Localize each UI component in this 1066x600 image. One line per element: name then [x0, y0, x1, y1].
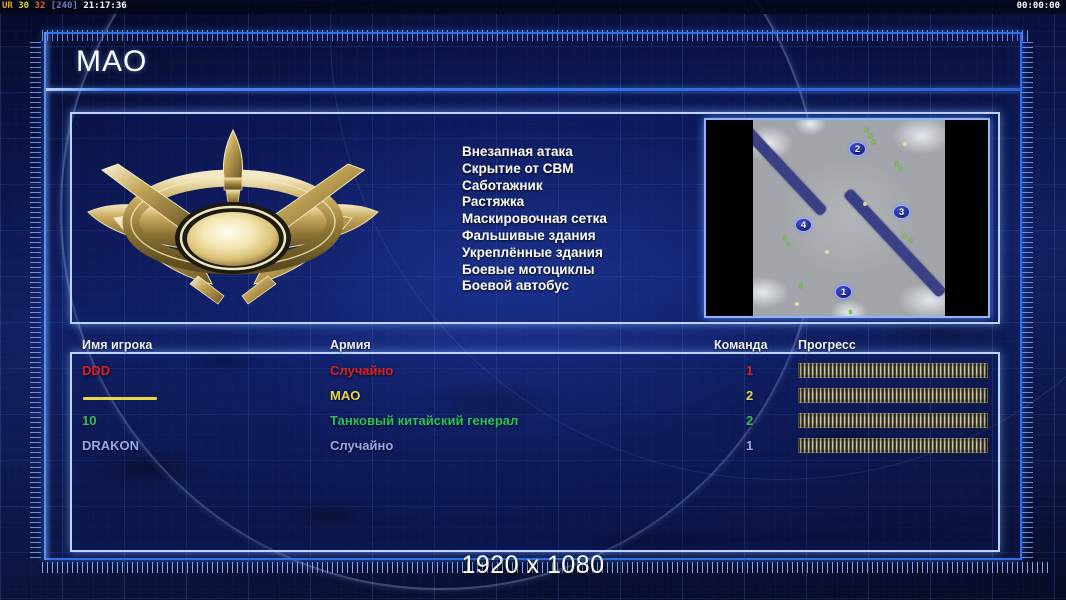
minimap-river — [843, 188, 945, 298]
minimap-tree — [869, 134, 872, 138]
ability-list: Внезапная атака Скрытие от СВМ Саботажни… — [462, 144, 607, 295]
minimap-tree — [903, 234, 906, 238]
hud-frame-glow — [44, 32, 52, 560]
minimap-tree — [865, 128, 868, 132]
minimap-tree — [783, 236, 786, 240]
player-army[interactable]: MAO — [330, 388, 360, 403]
minimap-start-position[interactable]: 1 — [835, 285, 852, 299]
minimap-terrain: 2 3 4 1 — [753, 120, 945, 316]
minimap-start-position[interactable]: 3 — [893, 205, 910, 219]
table-row[interactable]: MAO 2 — [70, 385, 1000, 410]
minimap-resource — [903, 142, 907, 146]
game-lobby-screen: UR 30 32 [240] 21:17:36 00:00:00 MAO — [0, 0, 1066, 600]
minimap-river — [753, 120, 828, 217]
title-bar: MAO — [46, 34, 1020, 90]
ability-item: Маскировочная сетка — [462, 211, 607, 228]
player-name[interactable] — [83, 397, 157, 400]
minimap-resource — [795, 302, 799, 306]
overlay-status-left: UR 30 32 [240] 21:17:36 — [2, 1, 127, 11]
minimap-tree — [849, 310, 852, 314]
player-name[interactable]: DRAKON — [82, 438, 139, 453]
minimap-tree — [909, 238, 912, 242]
status-bracket: [240] — [51, 1, 78, 11]
table-row[interactable]: DDD Случайно 1 — [70, 360, 1000, 385]
player-team[interactable]: 2 — [746, 413, 753, 428]
column-header-progress: Прогресс — [798, 338, 856, 352]
column-header-army: Армия — [330, 338, 371, 352]
minimap-start-position[interactable]: 4 — [795, 218, 812, 232]
ruler-left — [30, 42, 41, 558]
player-army[interactable]: Танковый китайский генерал — [330, 413, 518, 428]
player-army[interactable]: Случайно — [330, 363, 393, 378]
player-progress-bar — [798, 438, 988, 453]
player-name[interactable]: DDD — [82, 363, 110, 378]
ability-item: Скрытие от СВМ — [462, 161, 607, 178]
ability-item: Укреплённые здания — [462, 245, 607, 262]
overlay-status-right: 00:00:00 — [1017, 1, 1060, 11]
title-divider — [46, 88, 1020, 91]
ability-item: Фальшивые здания — [462, 228, 607, 245]
player-progress-bar — [798, 363, 988, 378]
minimap-resource — [825, 250, 829, 254]
status-clock: 21:17:36 — [83, 1, 126, 11]
status-label: UR — [2, 1, 13, 11]
ruler-right — [1022, 42, 1033, 558]
minimap-tree — [895, 162, 898, 166]
ability-item: Боевой автобус — [462, 278, 607, 295]
minimap-resource — [863, 202, 867, 206]
table-row[interactable]: DRAKON Случайно 1 — [70, 435, 1000, 460]
player-progress-bar — [798, 388, 988, 403]
ability-item: Растяжка — [462, 194, 607, 211]
status-number-two: 32 — [35, 1, 46, 11]
minimap-tree — [787, 242, 790, 246]
ability-item: Саботажник — [462, 178, 607, 195]
ability-item: Внезапная атака — [462, 144, 607, 161]
players-table-header: Имя игрока Армия Команда Прогресс — [70, 338, 1000, 356]
page-title: MAO — [76, 45, 147, 79]
player-team[interactable]: 1 — [746, 363, 753, 378]
column-header-name: Имя игрока — [82, 338, 152, 352]
general-emblem — [78, 126, 388, 316]
table-row[interactable]: 10 Танковый китайский генерал 2 — [70, 410, 1000, 435]
resolution-label: 1920 x 1080 — [0, 551, 1066, 580]
player-progress-bar — [798, 413, 988, 428]
top-status-strip — [0, 0, 1066, 14]
player-team[interactable]: 1 — [746, 438, 753, 453]
minimap[interactable]: 2 3 4 1 — [704, 118, 990, 318]
minimap-tree — [799, 284, 802, 288]
status-number-one: 30 — [18, 1, 29, 11]
minimap-tree — [899, 166, 902, 170]
ability-item: Боевые мотоциклы — [462, 262, 607, 279]
minimap-tree — [872, 140, 875, 144]
player-team[interactable]: 2 — [746, 388, 753, 403]
player-name[interactable]: 10 — [82, 413, 96, 428]
column-header-team: Команда — [714, 338, 768, 352]
players-table-body: DDD Случайно 1 MAO 2 10 Танковый китайск… — [70, 360, 1000, 460]
minimap-start-position[interactable]: 2 — [849, 142, 866, 156]
player-army[interactable]: Случайно — [330, 438, 393, 453]
